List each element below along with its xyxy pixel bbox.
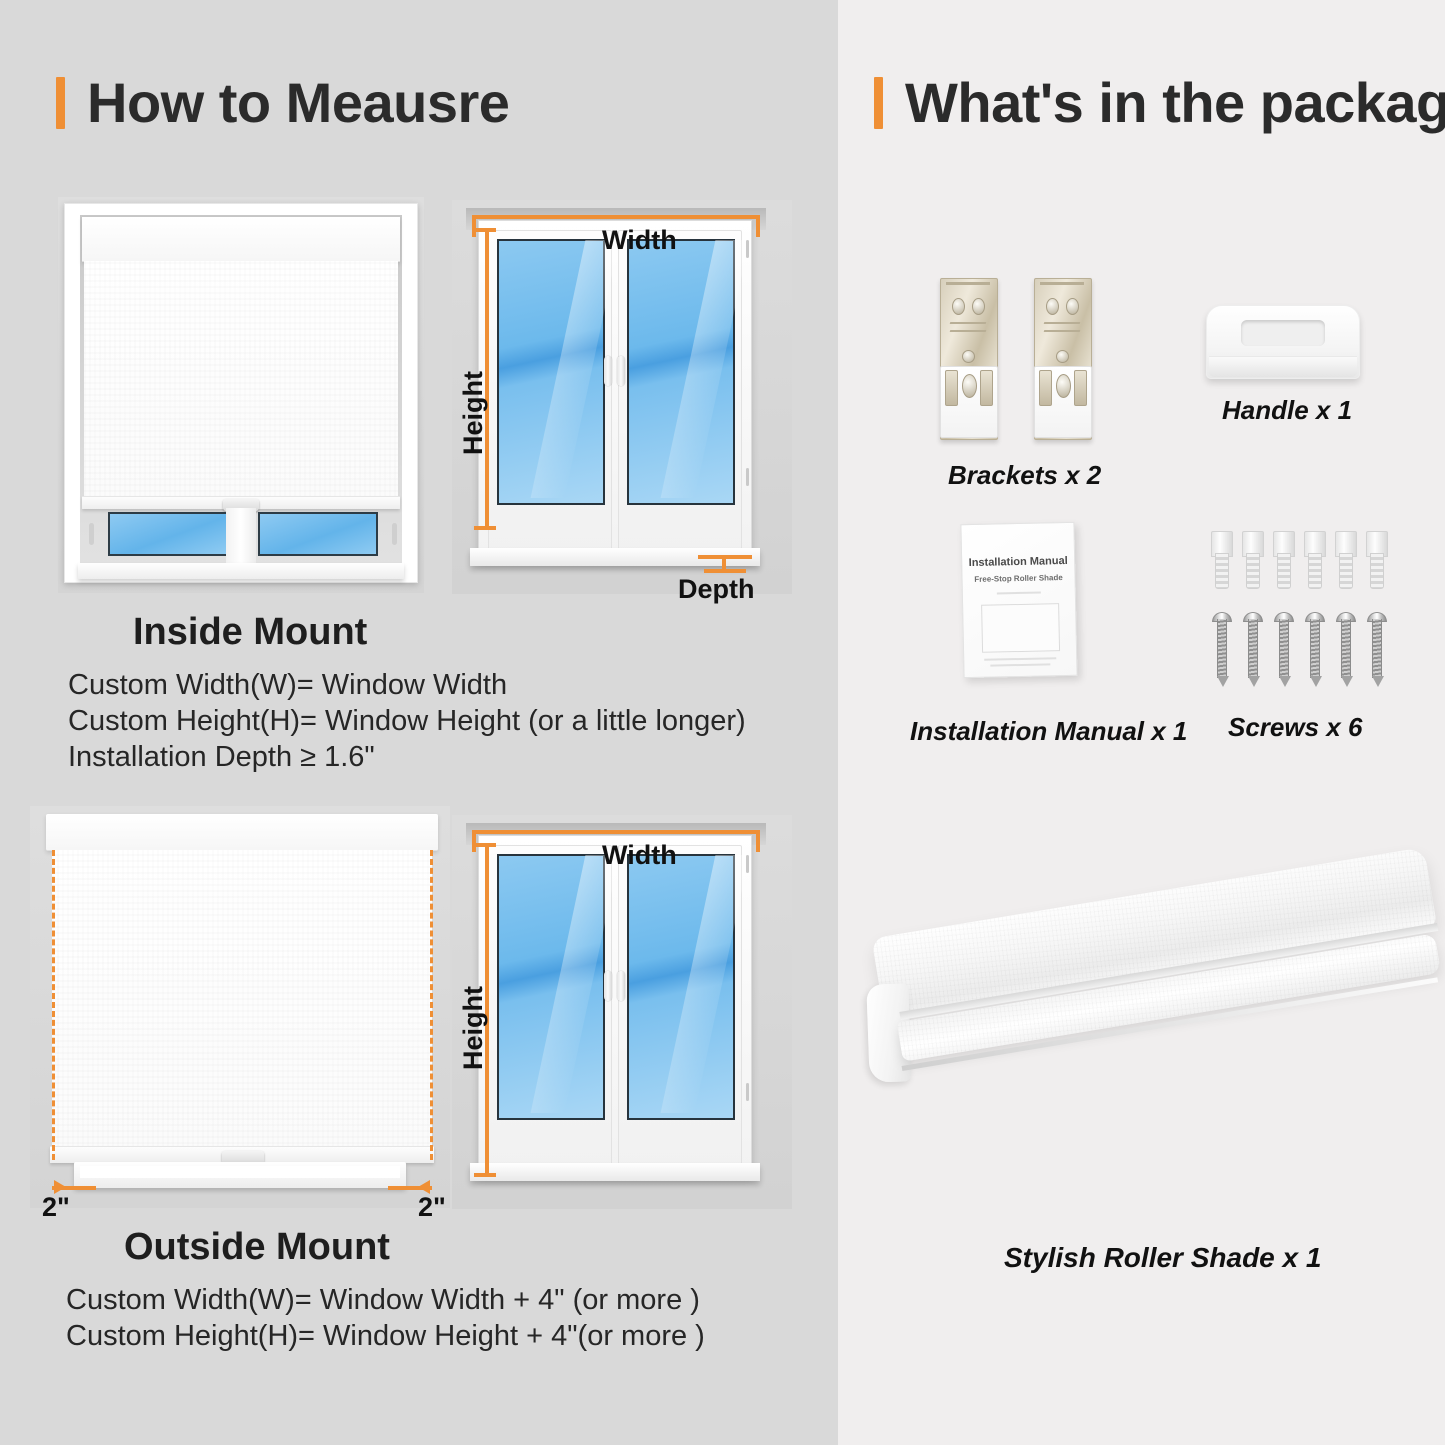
- inside-mount-dimension-window: Width Height Depth: [452, 200, 792, 594]
- window-pane-left: [497, 239, 605, 505]
- accent-bar-icon: [56, 77, 65, 129]
- width-guide-cap-left: [472, 830, 476, 852]
- bracket-icon: [1034, 278, 1090, 438]
- inside-spec-width: Custom Width(W)= Window Width: [68, 669, 507, 702]
- width-guide-line: [472, 215, 760, 219]
- hinge-mark-top-icon: [746, 855, 749, 873]
- screw-icon: [1336, 612, 1354, 678]
- height-label: Height: [458, 371, 489, 455]
- screw-icon: [1274, 612, 1292, 678]
- wall-anchor-icon: [1211, 531, 1231, 587]
- handle-icon: [1206, 305, 1360, 379]
- overhang-label-right: 2": [418, 1192, 446, 1223]
- width-label: Width: [602, 225, 677, 256]
- overhang-label-left: 2": [42, 1192, 70, 1223]
- overhang-guide-left: [52, 850, 55, 1160]
- outside-spec-height: Custom Height(H)= Window Height + 4"(or …: [66, 1320, 705, 1353]
- wall-anchor-icon: [1242, 531, 1262, 587]
- width-guide-line: [472, 830, 760, 834]
- window-handle-left-icon[interactable]: [604, 356, 612, 386]
- accent-bar-icon: [874, 77, 883, 129]
- hinge-mark-top-icon: [746, 240, 749, 258]
- screw-icon: [1367, 612, 1385, 678]
- window-handle-right-icon: [392, 523, 397, 545]
- infographic-page: How to Meausre: [0, 0, 1445, 1445]
- window-sill: [78, 563, 404, 579]
- window-frame-edge: [80, 1166, 400, 1178]
- window-handle-right-icon[interactable]: [617, 356, 625, 386]
- height-guide-cap-top: [474, 228, 496, 232]
- screw-icon: [1212, 612, 1230, 678]
- screw-icon: [1305, 612, 1323, 678]
- screw-icon: [1243, 612, 1261, 678]
- package-heading: What's in the package: [874, 70, 1445, 135]
- how-to-measure-panel: How to Meausre: [0, 0, 838, 1445]
- bracket-icon: [940, 278, 996, 438]
- outside-mount-title: Outside Mount: [124, 1226, 390, 1269]
- inside-spec-depth: Installation Depth ≥ 1.6": [68, 741, 375, 774]
- window-pane-right: [627, 239, 735, 505]
- inside-mount-title: Inside Mount: [133, 611, 367, 654]
- width-guide-cap-left: [472, 215, 476, 237]
- brackets-label: Brackets x 2: [948, 460, 1101, 491]
- wall-anchor-icon: [1304, 531, 1324, 587]
- height-guide-cap-top: [474, 843, 496, 847]
- window-pane-right: [627, 854, 735, 1120]
- hinge-mark-bottom-icon: [746, 468, 749, 486]
- screws-label: Screws x 6: [1228, 712, 1362, 743]
- roller-shade-label: Stylish Roller Shade x 1: [1004, 1242, 1321, 1274]
- window-mullion: [226, 508, 256, 566]
- inside-spec-height: Custom Height(H)= Window Height (or a li…: [68, 705, 746, 738]
- overhang-guide-right: [430, 850, 433, 1160]
- window-pane-right: [258, 512, 378, 556]
- window-handle-left-icon[interactable]: [604, 971, 612, 1001]
- handle-label: Handle x 1: [1222, 395, 1352, 426]
- inside-mount-illustration: [58, 197, 424, 593]
- window-sill: [470, 1163, 760, 1181]
- manual-cover-title: Installation Manual: [962, 555, 1074, 569]
- width-label: Width: [602, 840, 677, 871]
- wall-anchor-icon: [1273, 531, 1293, 587]
- height-label: Height: [458, 986, 489, 1070]
- width-guide-cap-right: [756, 215, 760, 237]
- shade-fabric: [84, 261, 398, 498]
- how-to-measure-heading: How to Meausre: [56, 70, 509, 135]
- window-handle-right-icon[interactable]: [617, 971, 625, 1001]
- shade-headrail: [82, 217, 400, 262]
- depth-label: Depth: [678, 574, 755, 605]
- shade-headrail: [46, 814, 438, 851]
- shade-fabric: [52, 850, 432, 1150]
- hinge-mark-bottom-icon: [746, 1083, 749, 1101]
- roller-shade-icon: [838, 860, 1445, 1190]
- manual-cover-subtitle: Free-Stop Roller Shade: [962, 573, 1074, 584]
- package-title: What's in the package: [905, 70, 1445, 135]
- window-pane-left: [108, 512, 228, 556]
- depth-guide-base: [704, 569, 746, 573]
- wall-anchor-icon: [1366, 531, 1386, 587]
- manual-label: Installation Manual x 1: [910, 716, 1187, 747]
- wall-anchor-icon: [1335, 531, 1355, 587]
- height-guide-cap-bottom: [474, 1173, 496, 1177]
- window-handle-left-icon: [89, 523, 94, 545]
- how-to-measure-title: How to Meausre: [87, 70, 509, 135]
- outside-mount-illustration: 2" 2": [30, 806, 450, 1208]
- height-guide-cap-bottom: [474, 526, 496, 530]
- outside-spec-width: Custom Width(W)= Window Width + 4" (or m…: [66, 1284, 700, 1317]
- manual-icon: Installation Manual Free-Stop Roller Sha…: [960, 522, 1077, 678]
- outside-mount-dimension-window: Width Height: [452, 815, 792, 1209]
- package-contents-panel: What's in the package: [838, 0, 1445, 1445]
- width-guide-cap-right: [756, 830, 760, 852]
- window-pane-left: [497, 854, 605, 1120]
